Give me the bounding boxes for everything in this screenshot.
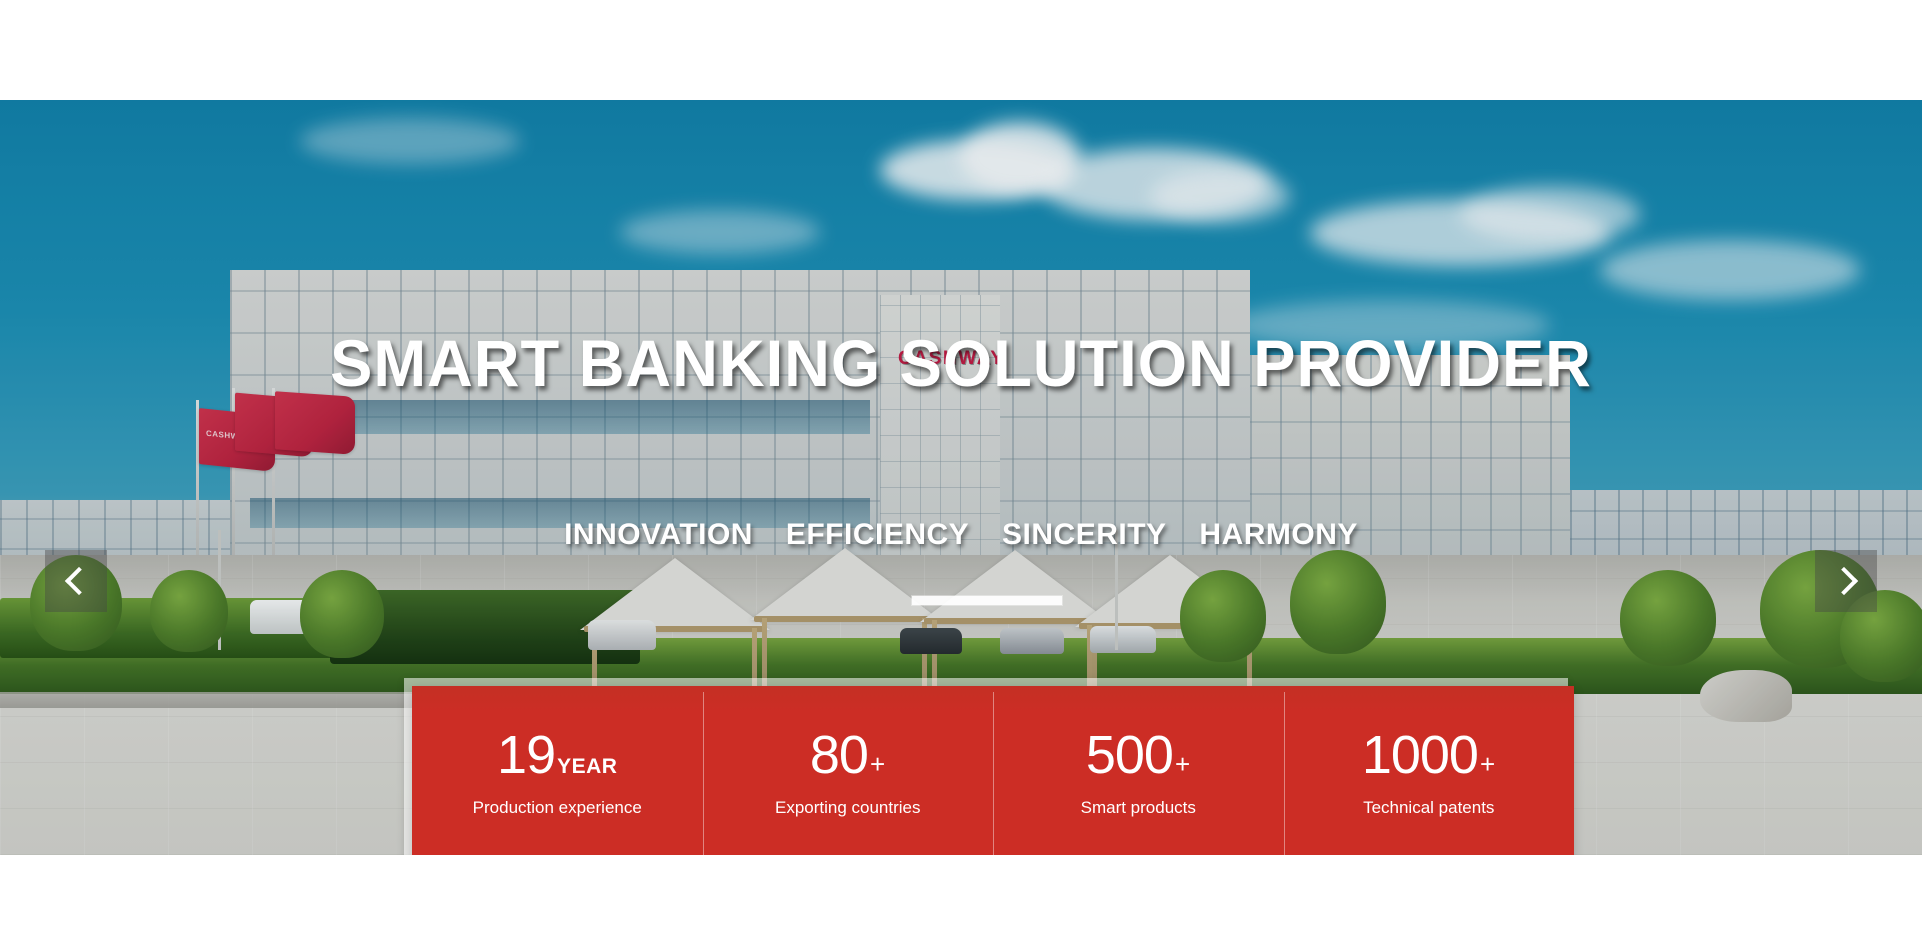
stat-label: Production experience xyxy=(473,798,642,818)
stat-number: 1000 xyxy=(1362,728,1478,782)
hero-headline: SMART BANKING SOLUTION PROVIDER xyxy=(38,330,1883,396)
stat-suffix: + xyxy=(1175,751,1191,777)
stat-value: 80 + xyxy=(810,728,886,782)
page-root: 不忘初心 牢记使命 砥砺前行 CASHWAY CASHWAY xyxy=(0,0,1922,950)
hero-value-sincerity: SINCERITY xyxy=(1002,518,1167,552)
hero-value-efficiency: EFFICIENCY xyxy=(786,518,969,552)
stat-suffix: + xyxy=(1480,751,1496,777)
hero-values: INNOVATION EFFICIENCY SINCERITY HARMONY xyxy=(0,518,1922,552)
stat-value: 500 + xyxy=(1086,728,1191,782)
chevron-left-icon xyxy=(64,567,92,595)
stat-value: 1000 + xyxy=(1362,728,1496,782)
top-white-band xyxy=(0,0,1922,100)
stat-number: 19 xyxy=(497,728,555,782)
hero-value-innovation: INNOVATION xyxy=(564,518,753,552)
stat-number: 500 xyxy=(1086,728,1173,782)
slide-indicator[interactable] xyxy=(912,596,1062,605)
stat-suffix: + xyxy=(870,751,886,777)
chevron-right-icon xyxy=(1829,567,1857,595)
stat-value: 19 YEAR xyxy=(497,728,617,782)
bottom-white-band xyxy=(0,855,1922,950)
stat-suffix: YEAR xyxy=(557,756,617,777)
carousel-prev-button[interactable] xyxy=(45,550,107,612)
carousel-next-button[interactable] xyxy=(1815,550,1877,612)
stat-label: Exporting countries xyxy=(775,798,921,818)
stat-number: 80 xyxy=(810,728,868,782)
hero-value-harmony: HARMONY xyxy=(1199,518,1358,552)
stat-label: Technical patents xyxy=(1363,798,1494,818)
stat-label: Smart products xyxy=(1081,798,1196,818)
